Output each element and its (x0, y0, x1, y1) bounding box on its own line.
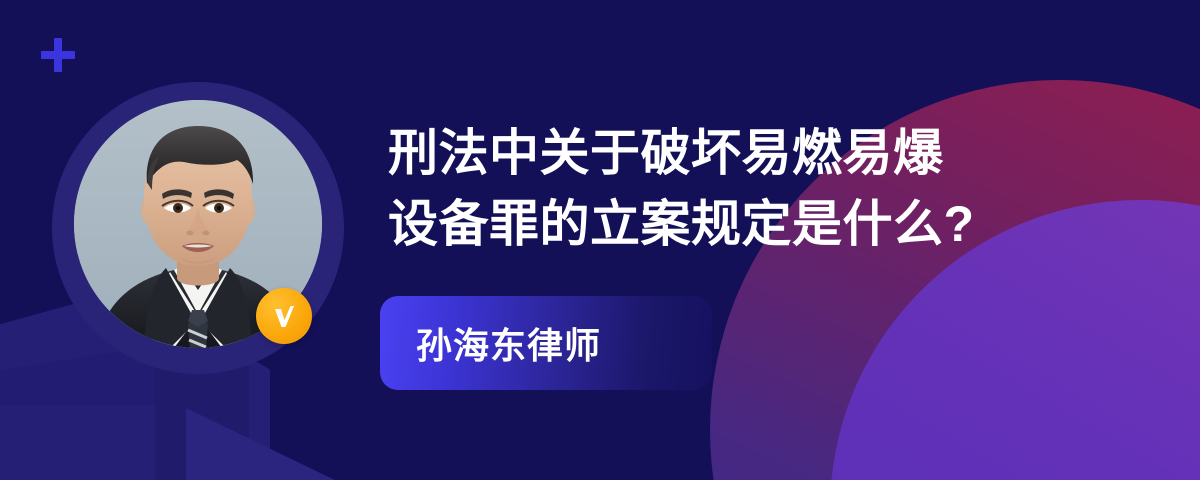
lawyer-name-label: 孙海东律师 (416, 317, 601, 369)
plus-icon (41, 38, 75, 72)
verified-check-icon (256, 288, 312, 344)
avatar (52, 82, 344, 374)
lawyer-name-badge[interactable]: 孙海东律师 (380, 296, 712, 390)
headline-block: 刑法中关于破坏易燃易爆 设备罪的立案规定是什么? (388, 118, 1128, 260)
lawyer-question-banner: 刑法中关于破坏易燃易爆 设备罪的立案规定是什么? 孙海东律师 (0, 0, 1200, 480)
page-title: 刑法中关于破坏易燃易爆 设备罪的立案规定是什么? (388, 118, 1128, 260)
